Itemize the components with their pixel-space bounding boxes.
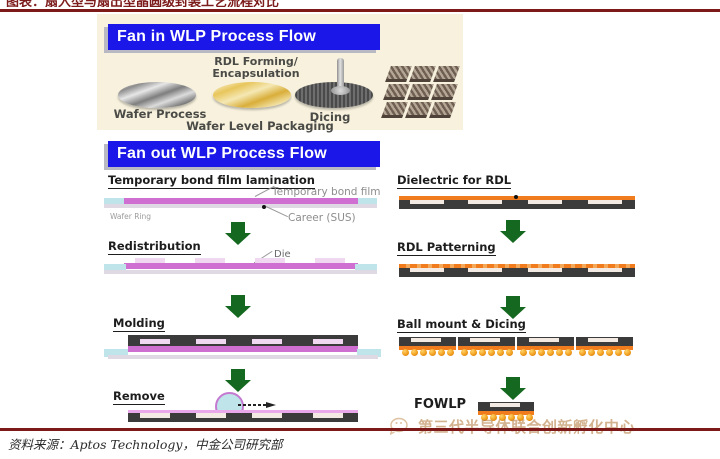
solder-ball: [606, 349, 613, 356]
step-title-ball-mount-dicing: Ball mount & Dicing: [397, 317, 526, 333]
temporary-bond-film-layer: [124, 263, 358, 269]
solder-ball: [556, 349, 563, 356]
solder-ball: [547, 349, 554, 356]
solder-ball: [447, 349, 454, 356]
solder-ball: [429, 349, 436, 356]
solder-ball: [506, 349, 513, 356]
step-title-redistribution: Redistribution: [108, 239, 201, 255]
process-flow-figure: Fan in WLP Process Flow RDL Forming/ Enc…: [0, 12, 720, 412]
step-title-remove: Remove: [113, 389, 165, 405]
source-line: 资料来源：Aptos Technology，中金公司研究部: [8, 434, 282, 453]
solder-ball: [597, 349, 604, 356]
die-pad: [529, 338, 559, 342]
debond-direction-arrow: [238, 402, 276, 408]
step-title-rdl-patterning: RDL Patterning: [397, 240, 496, 256]
figure-page: 图表：扇入型与扇出型晶圆级封装工艺流程对比 Fan in WLP Process…: [0, 0, 720, 459]
chip-icon: [407, 84, 434, 100]
die-pad: [490, 403, 520, 407]
die-pad: [410, 268, 444, 272]
solder-ball: [402, 349, 409, 356]
solder-ball: [565, 349, 572, 356]
die-pad: [468, 200, 502, 204]
solder-ball: [438, 349, 445, 356]
solder-ball: [508, 414, 515, 421]
solder-ball: [481, 414, 488, 421]
die-pad: [470, 338, 500, 342]
die-block: [252, 413, 282, 418]
solder-ball: [624, 349, 631, 356]
carrier-sus-layer: [108, 355, 378, 359]
wafer-disc-encapsulated: [213, 82, 291, 108]
label-wafer-level-packaging: Wafer Level Packaging: [160, 120, 360, 132]
fan-out-banner: Fan out WLP Process Flow: [108, 141, 380, 167]
solder-ball: [470, 349, 477, 356]
die-pad: [588, 268, 622, 272]
die-pad: [588, 338, 618, 342]
flow-arrow-down: [225, 369, 251, 392]
die-block: [140, 339, 170, 344]
die-pad: [588, 200, 622, 204]
solder-ball: [490, 414, 497, 421]
annotation-wafer-ring: Wafer Ring: [110, 212, 151, 221]
chip-icon: [383, 84, 410, 100]
flow-arrow-down: [500, 220, 526, 243]
solder-ball: [461, 349, 468, 356]
page-top-heading: 图表：扇入型与扇出型晶圆级封装工艺流程对比: [6, 0, 356, 7]
chip-icon: [431, 84, 458, 100]
carrier-sus-layer: [104, 270, 377, 274]
die-block: [140, 413, 170, 418]
chip-icon: [429, 102, 456, 118]
die-pad: [411, 338, 441, 342]
solder-ball: [420, 349, 427, 356]
chip-icon: [385, 66, 412, 82]
wafer-disc-bare: [118, 82, 196, 108]
solder-ball: [499, 414, 506, 421]
temporary-bond-film-layer: [128, 346, 358, 352]
die-block: [313, 413, 343, 418]
flow-arrow-down: [500, 377, 526, 400]
solder-ball: [579, 349, 586, 356]
solder-ball: [517, 414, 524, 421]
die-block: [252, 339, 282, 344]
solder-ball: [479, 349, 486, 356]
solder-ball: [529, 349, 536, 356]
fan-in-banner: Fan in WLP Process Flow: [108, 24, 380, 50]
die-pad: [410, 200, 444, 204]
solder-ball: [615, 349, 622, 356]
chip-icon: [405, 102, 432, 118]
solder-ball: [538, 349, 545, 356]
solder-ball: [526, 414, 533, 421]
step-title-fowlp: FOWLP: [414, 397, 466, 413]
solder-ball: [497, 349, 504, 356]
die-pad: [528, 268, 562, 272]
label-rdl-forming: RDL Forming/ Encapsulation: [196, 56, 316, 80]
annotation-career-sus: Career (SUS): [288, 212, 356, 224]
dicing-blade-tip-icon: [331, 86, 350, 95]
annotation-temporary-bond-film: Temporary bond film: [272, 186, 381, 198]
chip-icon: [433, 66, 460, 82]
die-pad: [468, 268, 502, 272]
step-title-dielectric-for-rdl: Dielectric for RDL: [397, 173, 511, 189]
flow-arrow-down: [225, 295, 251, 318]
flow-arrow-down: [500, 296, 526, 319]
singulated-chip-grid: [386, 64, 458, 116]
die-block: [196, 339, 226, 344]
label-rdl-forming-line2: Encapsulation: [196, 68, 316, 80]
wechat-icon: [390, 417, 412, 435]
die-block: [313, 339, 343, 344]
step-title-molding: Molding: [113, 316, 165, 332]
flow-arrow-down: [225, 222, 251, 245]
callout-dot: [514, 195, 518, 199]
carrier-sus-layer: [104, 204, 377, 208]
die-pad: [528, 200, 562, 204]
chip-icon: [381, 102, 408, 118]
solder-ball: [488, 349, 495, 356]
solder-ball: [520, 349, 527, 356]
solder-ball: [588, 349, 595, 356]
die-block: [196, 413, 226, 418]
bottom-divider-rule: [0, 428, 720, 431]
solder-ball: [411, 349, 418, 356]
chip-icon: [409, 66, 436, 82]
watermark: 第三代半导体联合创新孵化中心: [390, 414, 710, 438]
